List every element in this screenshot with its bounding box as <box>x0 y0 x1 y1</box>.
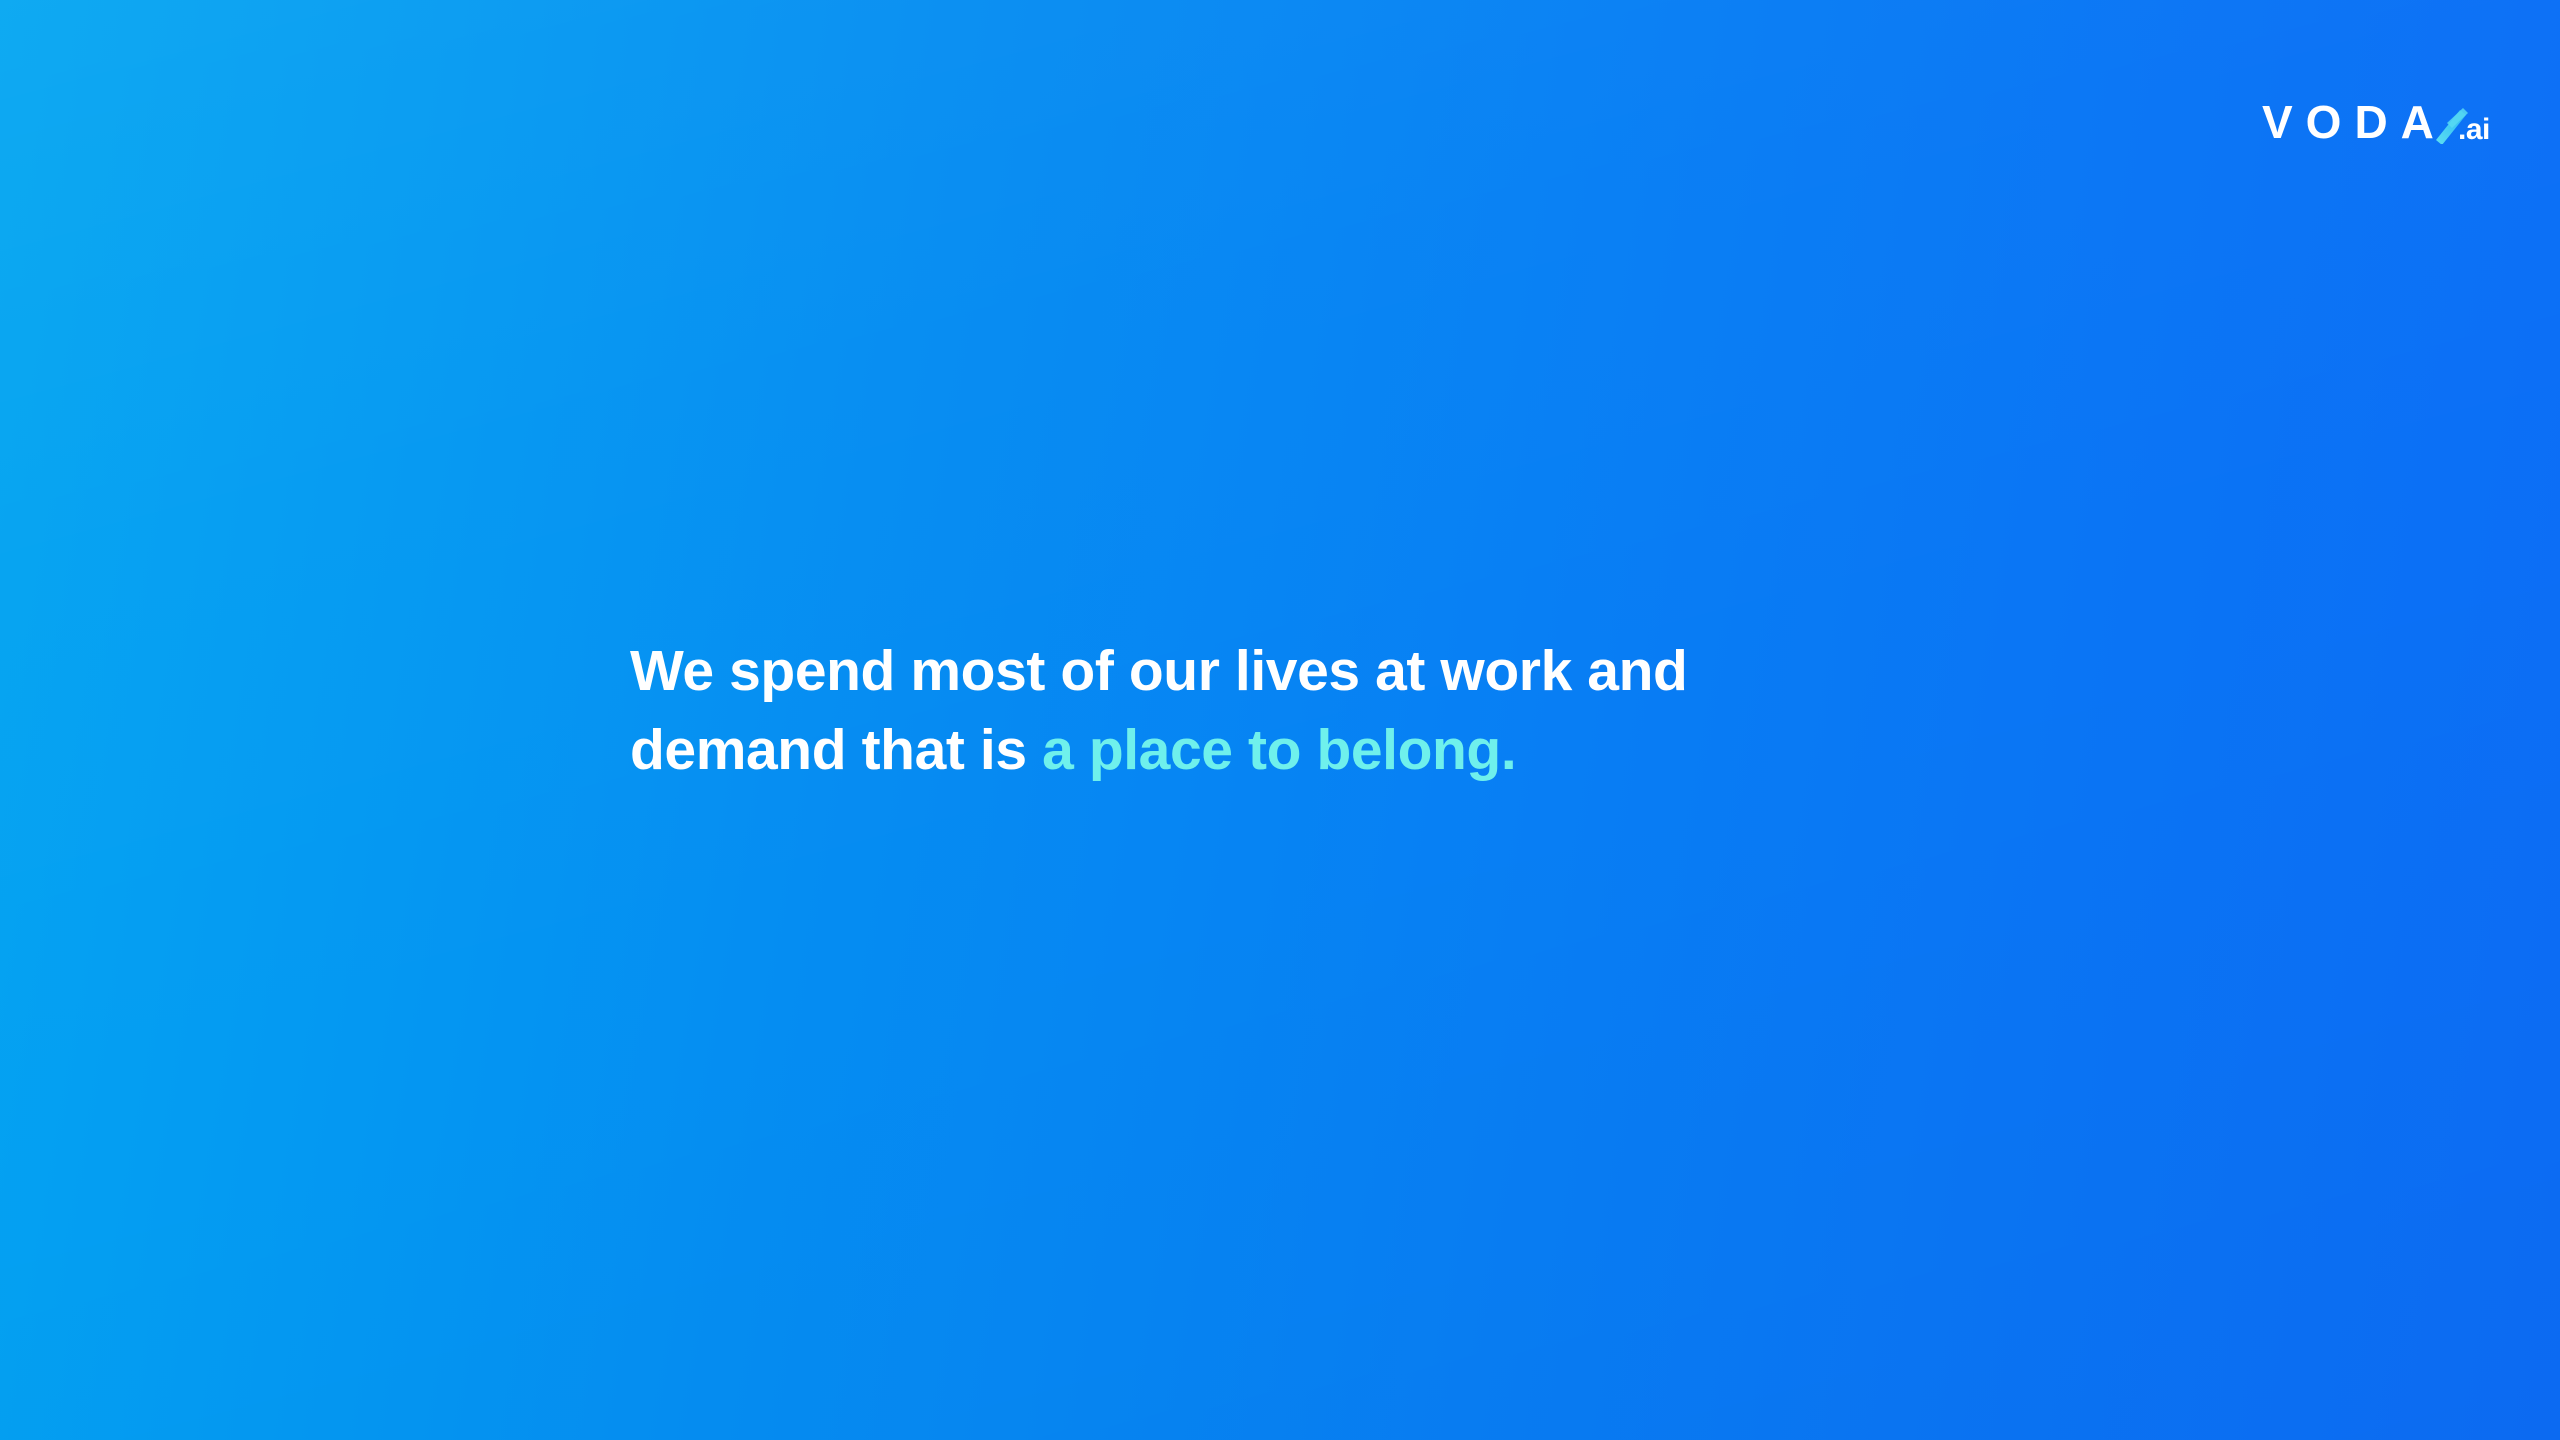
logo-suffix: .ai <box>2458 114 2490 146</box>
headline-line-2-accent: a place to belong. <box>1042 718 1516 782</box>
headline-line-2: demand that is a place to belong. <box>630 711 2050 790</box>
slide-canvas: VODA .ai We spend most of our lives at w… <box>0 0 2560 1440</box>
headline-line-2-prefix: demand that is <box>630 718 1042 782</box>
headline-block: We spend most of our lives at work and d… <box>630 632 2050 790</box>
logo-mark: VODA .ai <box>2262 96 2514 152</box>
voda-logo[interactable]: VODA .ai <box>2262 86 2514 152</box>
headline-line-1: We spend most of our lives at work and <box>630 632 2050 711</box>
logo-wordmark: VODA <box>2262 96 2447 148</box>
